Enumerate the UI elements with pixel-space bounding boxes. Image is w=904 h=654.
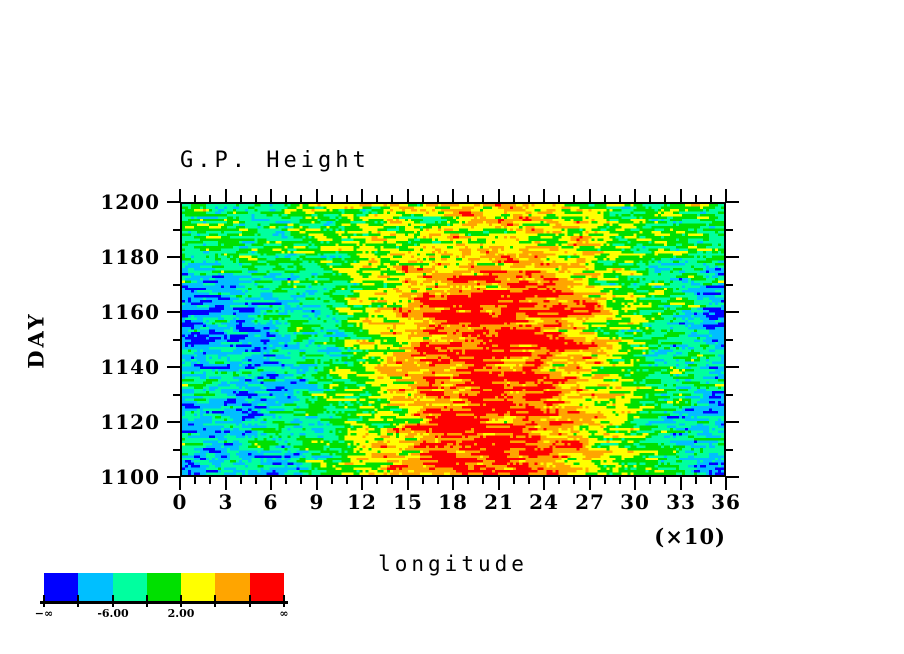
colorbar-band [181, 573, 215, 601]
y-tick-label: 1100 [56, 465, 160, 489]
x-minor-tick-top [285, 195, 287, 202]
y-major-tick-right [726, 366, 739, 368]
x-major-tick-bottom [725, 477, 727, 490]
x-axis-label: longitude [378, 552, 528, 576]
y-tick-label: 1200 [56, 190, 160, 214]
x-minor-tick-bottom [619, 477, 621, 484]
x-minor-tick-bottom [664, 477, 666, 484]
colorbar-band [147, 573, 181, 601]
x-tick-label: 27 [575, 490, 605, 514]
colorbar-tick [283, 595, 285, 607]
y-major-tick-left [167, 476, 180, 478]
x-minor-tick-top [194, 195, 196, 202]
x-tick-label: 6 [264, 490, 279, 514]
x-major-tick-bottom [361, 477, 363, 490]
x-minor-tick-bottom [710, 477, 712, 484]
x-major-tick-top [634, 189, 636, 202]
x-minor-tick-bottom [255, 477, 257, 484]
colorbar-band [44, 573, 78, 601]
y-major-tick-left [167, 201, 180, 203]
x-major-tick-bottom [589, 477, 591, 490]
x-major-tick-bottom [543, 477, 545, 490]
x-minor-tick-bottom [376, 477, 378, 484]
x-tick-label: 30 [620, 490, 650, 514]
x-major-tick-bottom [225, 477, 227, 490]
y-minor-tick-right [726, 339, 733, 341]
colorbar-tick [249, 595, 251, 607]
x-minor-tick-bottom [391, 477, 393, 484]
x-minor-tick-top [255, 195, 257, 202]
x-major-tick-bottom [680, 477, 682, 490]
x-minor-tick-top [346, 195, 348, 202]
x-minor-tick-top [482, 195, 484, 202]
y-minor-tick-right [726, 449, 733, 451]
x-major-tick-bottom [270, 477, 272, 490]
colorbar-tick [43, 595, 45, 607]
x-minor-tick-top [300, 195, 302, 202]
x-minor-tick-bottom [209, 477, 211, 484]
x-major-tick-top [543, 189, 545, 202]
x-major-tick-top [270, 189, 272, 202]
y-major-tick-right [726, 476, 739, 478]
colorbar-band [215, 573, 249, 601]
x-minor-tick-top [331, 195, 333, 202]
colorbar-band [78, 573, 112, 601]
x-minor-tick-bottom [285, 477, 287, 484]
y-minor-tick-right [726, 229, 733, 231]
x-major-tick-top [407, 189, 409, 202]
x-major-tick-top [452, 189, 454, 202]
y-major-tick-right [726, 311, 739, 313]
x-minor-tick-top [573, 195, 575, 202]
x-axis-multiplier: (×10) [654, 524, 726, 549]
colorbar-tick-label: −∞ [35, 607, 53, 620]
x-minor-tick-bottom [300, 477, 302, 484]
heatmap-canvas [182, 204, 724, 475]
x-minor-tick-top [437, 195, 439, 202]
x-minor-tick-top [422, 195, 424, 202]
x-tick-label: 33 [666, 490, 696, 514]
page-title: G.P. Height [180, 148, 370, 173]
x-minor-tick-bottom [528, 477, 530, 484]
colorbar-tick [214, 595, 216, 607]
x-major-tick-top [361, 189, 363, 202]
x-tick-label: 15 [393, 490, 423, 514]
x-tick-label: 24 [529, 490, 559, 514]
x-tick-label: 18 [438, 490, 468, 514]
x-minor-tick-bottom [240, 477, 242, 484]
y-minor-tick-left [173, 339, 180, 341]
plot-area[interactable] [180, 202, 726, 477]
x-minor-tick-top [710, 195, 712, 202]
y-minor-tick-left [173, 449, 180, 451]
x-major-tick-top [316, 189, 318, 202]
y-minor-tick-right [726, 394, 733, 396]
colorbar-band [250, 573, 284, 601]
x-minor-tick-top [649, 195, 651, 202]
colorbar-tick [146, 595, 148, 607]
colorbar-tick [112, 595, 114, 607]
x-minor-tick-bottom [422, 477, 424, 484]
x-minor-tick-top [240, 195, 242, 202]
x-tick-label: 12 [347, 490, 377, 514]
x-minor-tick-bottom [467, 477, 469, 484]
x-minor-tick-bottom [695, 477, 697, 484]
x-major-tick-bottom [452, 477, 454, 490]
x-tick-label: 0 [173, 490, 188, 514]
x-major-tick-bottom [634, 477, 636, 490]
y-tick-label: 1180 [56, 245, 160, 269]
y-minor-tick-left [173, 284, 180, 286]
x-minor-tick-bottom [437, 477, 439, 484]
colorbar-tick-label: 2.00 [168, 607, 195, 620]
y-axis-label: DAY [24, 311, 49, 368]
x-minor-tick-top [558, 195, 560, 202]
colorbar-tick-label: -6.00 [97, 607, 128, 620]
colorbar-tick-label: ∞ [279, 607, 288, 620]
y-tick-label: 1140 [56, 355, 160, 379]
colorbar-bands [44, 573, 284, 601]
y-minor-tick-left [173, 229, 180, 231]
x-tick-label: 36 [711, 490, 741, 514]
x-minor-tick-bottom [573, 477, 575, 484]
x-minor-tick-top [695, 195, 697, 202]
x-minor-tick-bottom [346, 477, 348, 484]
y-minor-tick-right [726, 284, 733, 286]
x-minor-tick-bottom [558, 477, 560, 484]
x-minor-tick-bottom [604, 477, 606, 484]
x-minor-tick-top [391, 195, 393, 202]
x-major-tick-top [589, 189, 591, 202]
x-major-tick-bottom [179, 477, 181, 490]
x-major-tick-bottom [498, 477, 500, 490]
y-major-tick-left [167, 311, 180, 313]
x-tick-label: 9 [310, 490, 325, 514]
colorbar-tick [77, 595, 79, 607]
x-tick-label: 21 [484, 490, 514, 514]
y-tick-label: 1120 [56, 410, 160, 434]
x-minor-tick-top [376, 195, 378, 202]
y-tick-label: 1160 [56, 300, 160, 324]
x-minor-tick-bottom [513, 477, 515, 484]
x-minor-tick-bottom [482, 477, 484, 484]
x-minor-tick-top [513, 195, 515, 202]
x-minor-tick-top [619, 195, 621, 202]
x-major-tick-top [498, 189, 500, 202]
x-minor-tick-top [528, 195, 530, 202]
x-minor-tick-top [467, 195, 469, 202]
y-major-tick-left [167, 256, 180, 258]
y-major-tick-right [726, 201, 739, 203]
y-major-tick-left [167, 366, 180, 368]
figure-root: G.P. Height 0369121518212427303336110011… [0, 0, 904, 654]
colorbar-legend[interactable]: −∞-6.002.00∞ [44, 573, 284, 601]
y-major-tick-right [726, 256, 739, 258]
x-minor-tick-bottom [331, 477, 333, 484]
x-minor-tick-top [209, 195, 211, 202]
x-minor-tick-top [664, 195, 666, 202]
x-major-tick-top [680, 189, 682, 202]
y-major-tick-right [726, 421, 739, 423]
x-minor-tick-bottom [194, 477, 196, 484]
x-minor-tick-top [604, 195, 606, 202]
colorbar-band [113, 573, 147, 601]
x-major-tick-bottom [407, 477, 409, 490]
x-minor-tick-bottom [649, 477, 651, 484]
x-tick-label: 3 [219, 490, 234, 514]
x-major-tick-bottom [316, 477, 318, 490]
x-major-tick-top [225, 189, 227, 202]
colorbar-tick [180, 595, 182, 607]
y-minor-tick-left [173, 394, 180, 396]
y-major-tick-left [167, 421, 180, 423]
